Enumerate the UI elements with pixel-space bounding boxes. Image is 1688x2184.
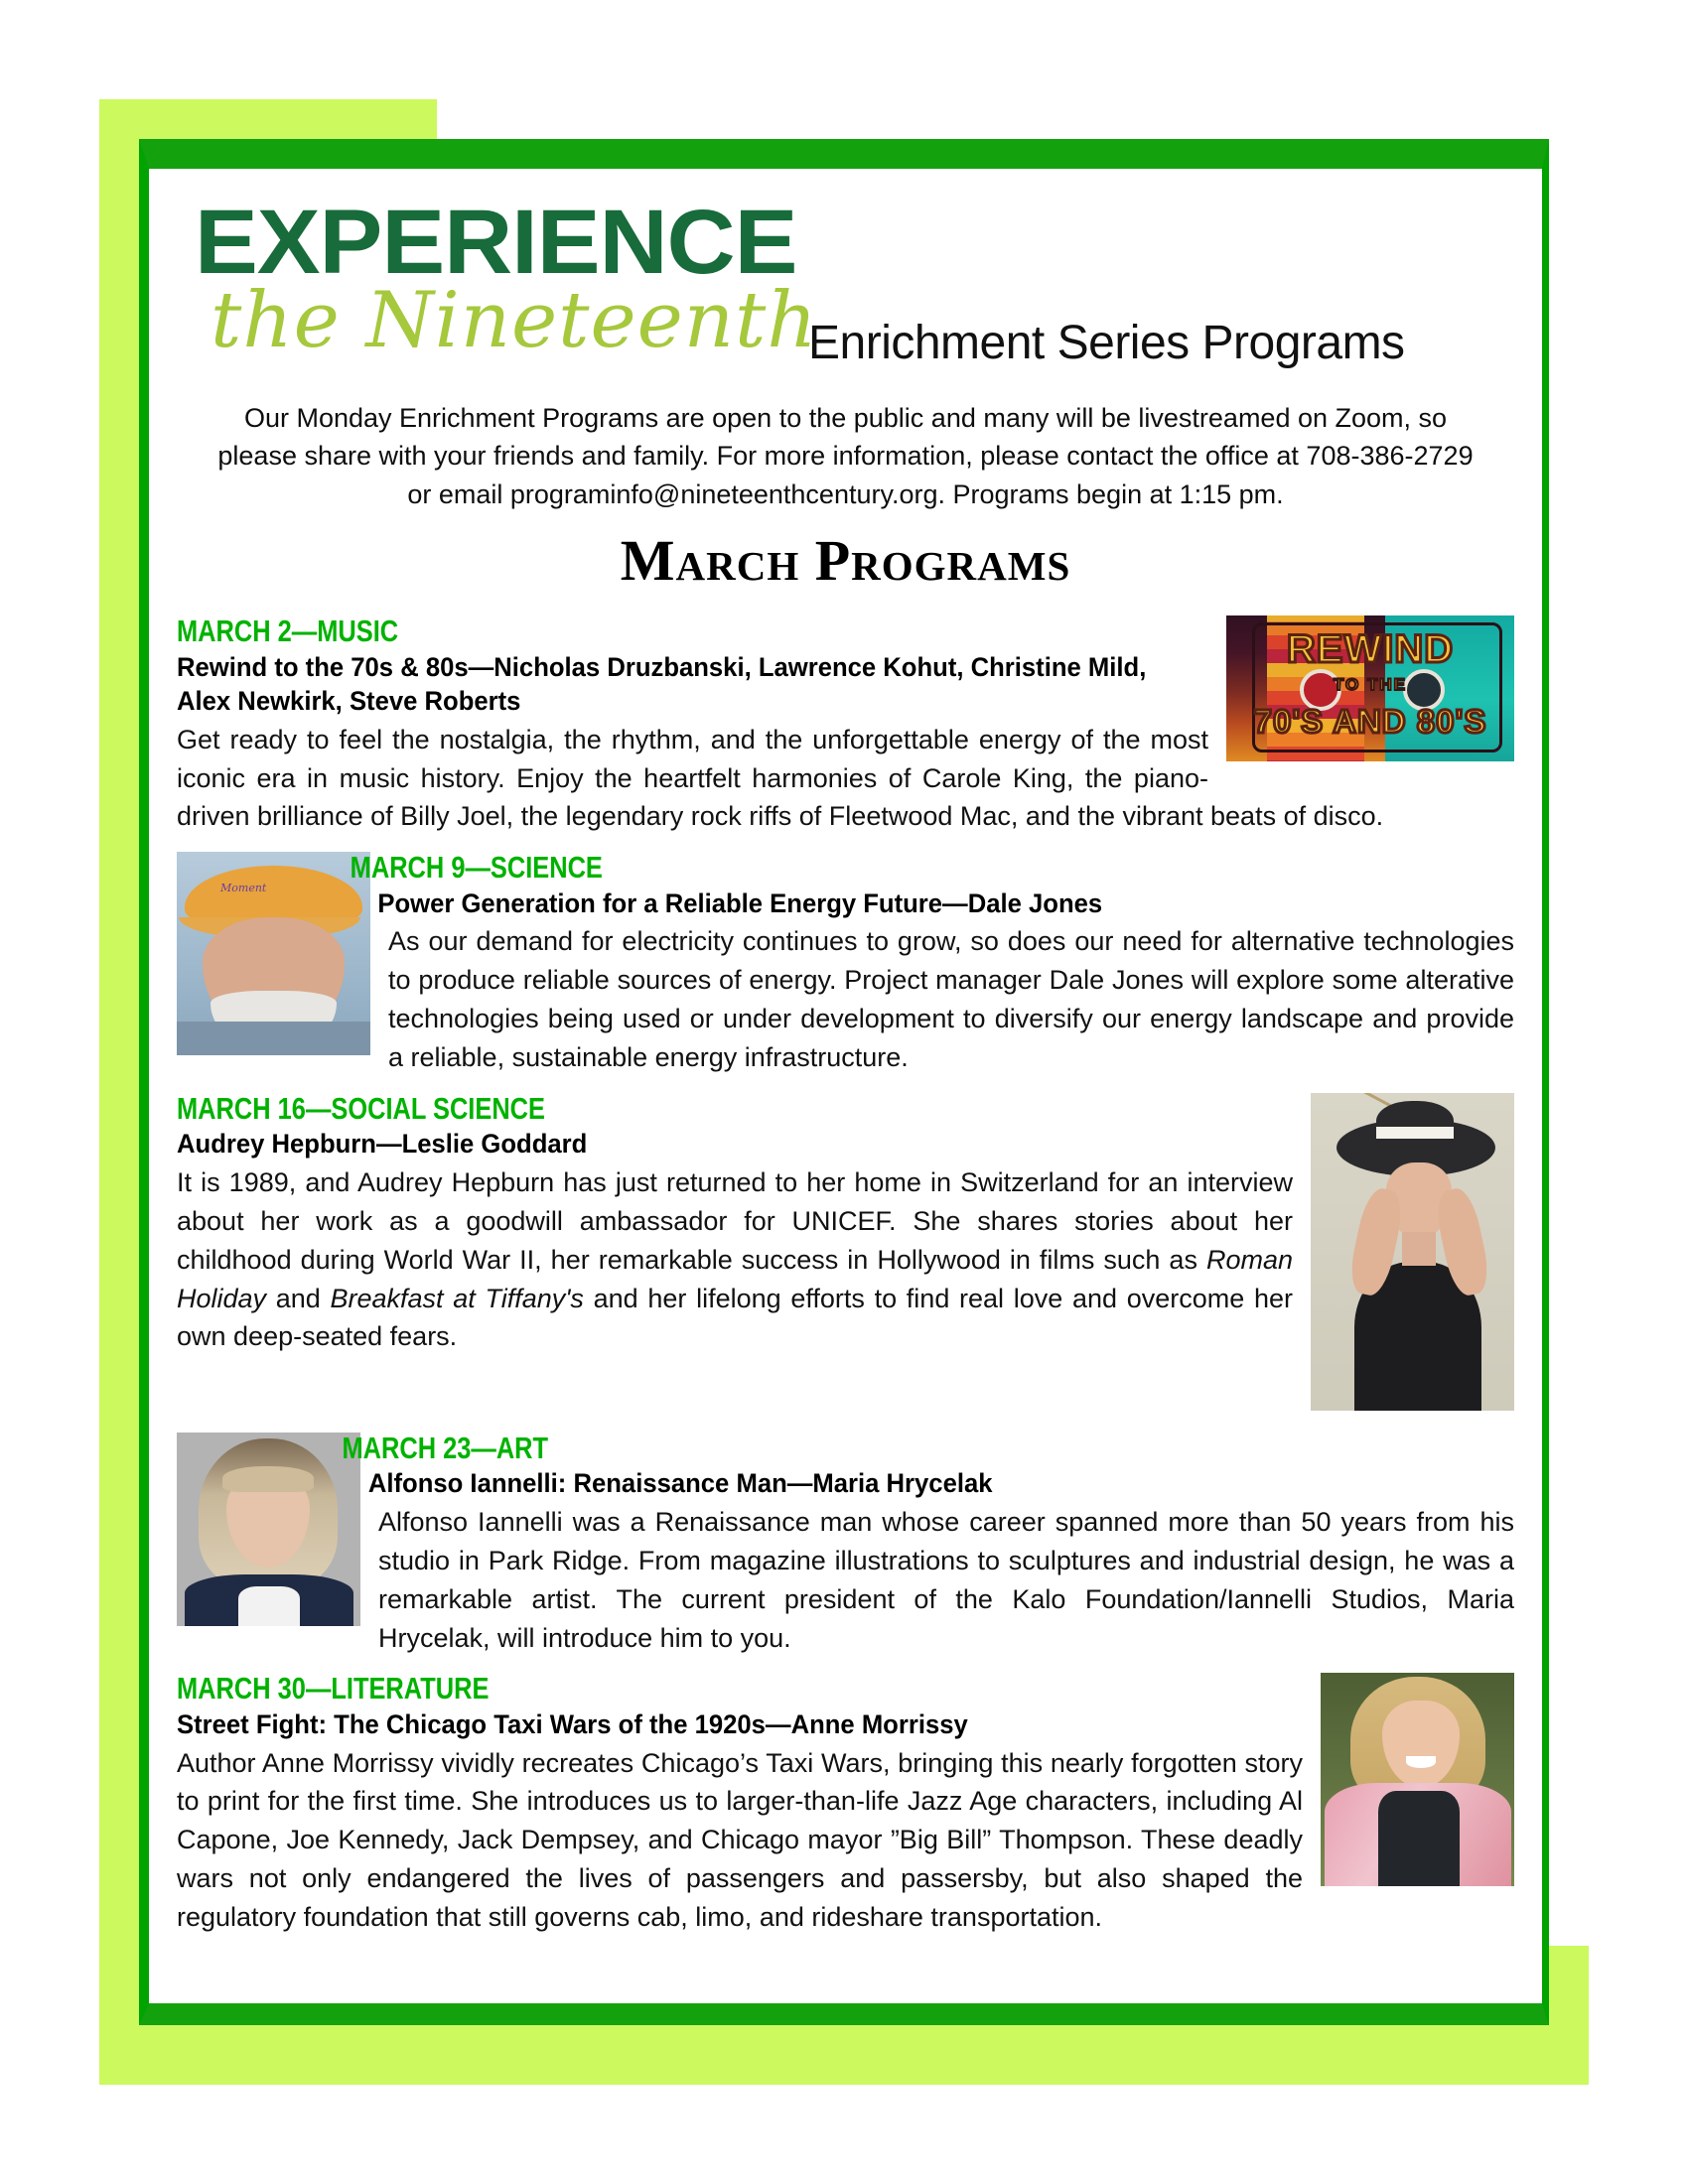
- maria-collar: [238, 1586, 300, 1626]
- program-title-march-23: Alfonso Iannelli: Renaissance Man—Maria …: [177, 1466, 1448, 1501]
- masthead: EXPERIENCE the Nineteenth Enrichment Ser…: [173, 187, 1518, 395]
- intro-paragraph: Our Monday Enrichment Programs are open …: [206, 395, 1486, 513]
- program-title-march-30: Street Fight: The Chicago Taxi Wars of t…: [177, 1707, 1448, 1742]
- logo-the-nineteenth: the Nineteenth: [211, 282, 818, 359]
- logo-experience: EXPERIENCE: [195, 197, 796, 288]
- program-body-march-23: Alfonso Iannelli was a Renaissance man w…: [177, 1503, 1514, 1658]
- flyer-frame: EXPERIENCE the Nineteenth Enrichment Ser…: [139, 139, 1549, 2025]
- program-march-2: REWIND TO THE 70'S AND 80'S MARCH 2—MUSI…: [177, 615, 1514, 836]
- program-march-30: MARCH 30—LITERATURE Street Fight: The Ch…: [177, 1673, 1514, 1936]
- program-body-march-9: As our demand for electricity continues …: [177, 922, 1514, 1077]
- program-title-march-9: Power Generation for a Reliable Energy F…: [177, 887, 1448, 921]
- anne-tank-top: [1378, 1791, 1460, 1886]
- program-date-march-9: MARCH 9—SCIENCE: [177, 852, 1274, 885]
- program-title-march-16: Audrey Hepburn—Leslie Goddard: [177, 1127, 1448, 1161]
- program-date-march-2: MARCH 2—MUSIC: [177, 615, 1274, 648]
- series-title: Enrichment Series Programs: [808, 316, 1405, 370]
- program-date-march-23: MARCH 23—ART: [177, 1433, 1274, 1465]
- program-date-march-16: MARCH 16—SOCIAL SCIENCE: [177, 1093, 1274, 1126]
- program-march-23: MARCH 23—ART Alfonso Iannelli: Renaissan…: [177, 1433, 1514, 1658]
- anne-morrissy-photo: [1321, 1673, 1514, 1886]
- audrey-neck: [1402, 1232, 1436, 1266]
- program-title-march-2: Rewind to the 70s & 80s—Nicholas Druzban…: [177, 650, 1448, 719]
- program-march-9: Moment MARCH 9—SCIENCE Power Generation …: [177, 852, 1514, 1077]
- flyer-content: EXPERIENCE the Nineteenth Enrichment Ser…: [149, 187, 1542, 2021]
- program-march-16: MARCH 16—SOCIAL SCIENCE Audrey Hepburn—L…: [177, 1093, 1514, 1417]
- program-date-march-30: MARCH 30—LITERATURE: [177, 1673, 1274, 1706]
- programs-list: REWIND TO THE 70'S AND 80'S MARCH 2—MUSI…: [173, 615, 1518, 1937]
- program-body-march-30: Author Anne Morrissy vividly recreates C…: [177, 1744, 1514, 1937]
- dale-shirt: [177, 1022, 370, 1055]
- page-title: March Programs: [173, 527, 1518, 594]
